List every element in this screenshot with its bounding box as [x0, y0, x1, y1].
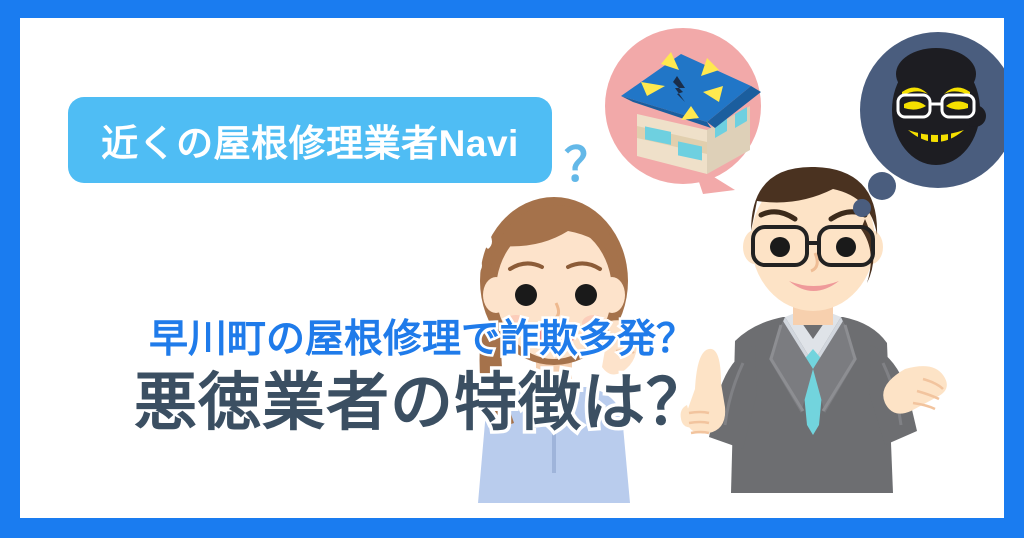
thought-bubble-thief — [840, 18, 1004, 233]
headline-group: 早川町の屋根修理で詐欺多発？ 悪徳業者の特徴は？ — [72, 318, 772, 438]
banner-frame: 近くの屋根修理業者Navi ？ 早川町の屋根修理で詐欺多発？ 悪徳業者の特徴は？ — [0, 0, 1024, 538]
site-name-badge[interactable]: 近くの屋根修理業者Navi — [68, 97, 552, 183]
headline-subline: 早川町の屋根修理で詐欺多発？ — [72, 318, 772, 362]
site-name-label: 近くの屋根修理業者Navi — [101, 113, 519, 167]
headline-mainline: 悪徳業者の特徴は？ — [72, 368, 772, 439]
speech-bubble-house — [585, 18, 785, 223]
banner-canvas: 近くの屋根修理業者Navi ？ 早川町の屋根修理で詐欺多発？ 悪徳業者の特徴は？ — [20, 18, 1004, 518]
